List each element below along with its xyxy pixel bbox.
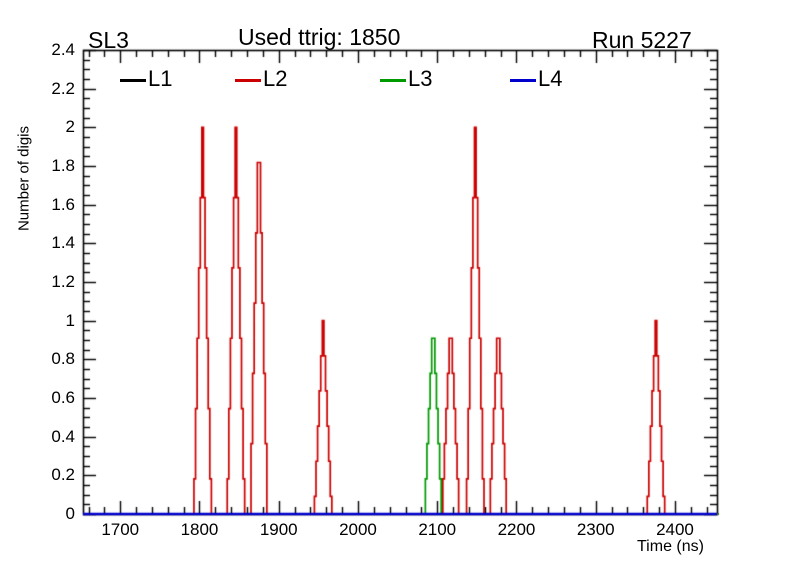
- x-tick-label: 2200: [481, 520, 551, 540]
- title-left: SL3: [88, 27, 129, 54]
- x-tick-label: 1900: [244, 520, 314, 540]
- x-tick-label: 2400: [640, 520, 710, 540]
- title-center: Used ttrig: 1850: [238, 24, 400, 51]
- y-tick-label: 0: [29, 504, 75, 524]
- y-tick-label: 1: [29, 311, 75, 331]
- x-tick-label: 1800: [164, 520, 234, 540]
- plot-canvas: [0, 0, 796, 572]
- y-tick-label: 1.6: [29, 195, 75, 215]
- legend-label-l4: L4: [538, 66, 562, 92]
- y-tick-label: 2.2: [29, 79, 75, 99]
- x-tick-label: 2100: [402, 520, 472, 540]
- y-tick-label: 0.8: [29, 349, 75, 369]
- legend-line-l2: [235, 79, 261, 82]
- legend-label-l2: L2: [263, 66, 287, 92]
- y-tick-label: 2.4: [29, 40, 75, 60]
- y-tick-label: 1.8: [29, 156, 75, 176]
- y-tick-label: 0.6: [29, 388, 75, 408]
- y-tick-label: 0.2: [29, 465, 75, 485]
- y-tick-label: 0.4: [29, 427, 75, 447]
- x-axis-label: Time (ns): [637, 538, 704, 556]
- legend-label-l3: L3: [408, 66, 432, 92]
- title-right: Run 5227: [592, 27, 692, 54]
- x-tick-label: 2000: [323, 520, 393, 540]
- y-tick-label: 1.2: [29, 272, 75, 292]
- legend-label-l1: L1: [148, 66, 172, 92]
- legend-line-l3: [380, 79, 406, 82]
- legend-line-l4: [510, 79, 536, 82]
- y-tick-label: 2: [29, 117, 75, 137]
- y-tick-label: 1.4: [29, 233, 75, 253]
- legend-line-l1: [120, 79, 146, 82]
- x-tick-label: 1700: [85, 520, 155, 540]
- x-tick-label: 2300: [561, 520, 631, 540]
